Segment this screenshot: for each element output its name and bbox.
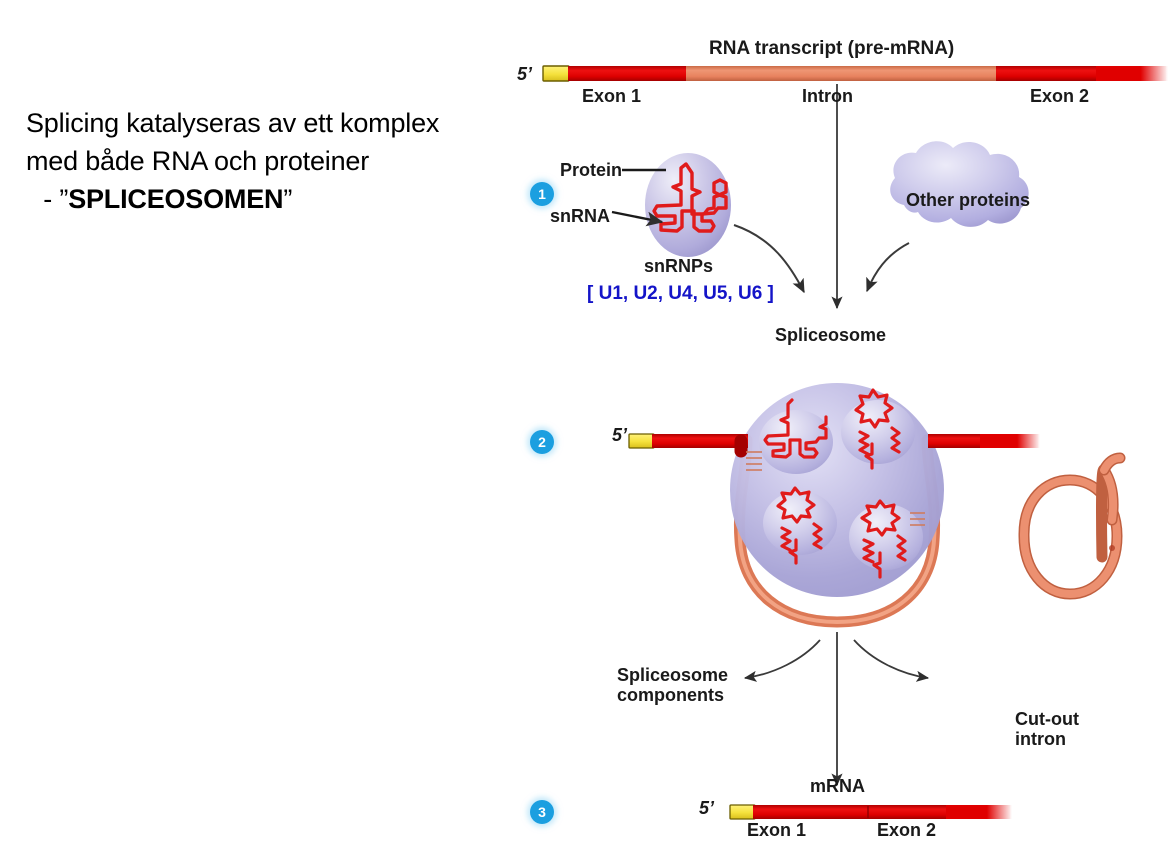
spliceosome-label: Spliceosome [775,325,886,345]
caption-quote-close: ” [283,184,292,214]
transcript-title: RNA transcript (pre-mRNA) [709,38,954,59]
five-prime-cap-top [543,66,569,81]
mature-mrna [730,805,1012,819]
snrnp-units-label: [ U1, U2, U4, U5, U6 ] [587,283,774,304]
cutout-line-1: Cut-out [1015,709,1079,729]
exon1-label-top: Exon 1 [582,86,641,106]
arrow-to-cutout-intron [854,640,928,678]
other-proteins-cloud [890,141,1028,227]
spliceosome-sphere [730,383,944,597]
five-prime-cap-bottom [730,805,755,819]
five-prime-label-step2: 5’ [612,425,627,445]
snrna-label: snRNA [550,206,610,226]
other-proteins-label: Other proteins [906,190,1030,210]
caption-quote-open: - ” [36,184,68,214]
intron-label-top: Intron [802,86,853,106]
cutout-intron-lariat [1024,458,1120,594]
components-line-1: Spliceosome [617,665,728,685]
spliceosome-complex [629,383,1040,622]
five-prime-label-step3: 5’ [699,798,714,818]
protein-label: Protein [560,160,622,180]
exon1-strand-step2 [629,434,748,451]
caption-line-1: Splicing katalyseras av ett komplex [26,104,496,142]
exon1-segment-top [568,66,686,81]
components-line-2: components [617,685,724,705]
spliceosome-components-label: Spliceosomecomponents [617,665,728,705]
exon2-strand-step2 [928,434,1040,448]
mrna-label: mRNA [810,776,865,796]
cutout-line-2: intron [1015,729,1066,749]
exon2-label-top: Exon 2 [1030,86,1089,106]
caption-spliceosomen: SPLICEOSOMEN [68,184,283,214]
caption-line-2: med både RNA och proteiner [26,142,496,180]
splicing-diagram: RNA transcript (pre-mRNA) 5’ Exon 1 Intr… [500,0,1174,868]
step-badge-2: 2 [530,430,554,454]
snrnps-label: snRNPs [644,256,713,276]
intron-segment-top [686,66,996,81]
arrow-snrnp-to-spliceosome [734,225,804,292]
slide-caption: Splicing katalyseras av ett komplex med … [26,104,496,218]
step-badge-3: 3 [530,800,554,824]
pre-mrna-transcript [543,66,1168,81]
five-prime-label-top: 5’ [517,64,532,84]
snrnp-particle [645,153,731,257]
arrow-to-components [745,640,820,678]
arrow-otherproteins-to-spliceosome [867,243,909,291]
exon2-label-bottom: Exon 2 [877,820,936,840]
exon1-label-bottom: Exon 1 [747,820,806,840]
exon1-segment-bottom [753,805,868,819]
step-badge-1: 1 [530,182,554,206]
cutout-intron-label: Cut-outintron [1015,709,1079,749]
caption-line-3: - ”SPLICEOSOMEN” [26,180,496,218]
